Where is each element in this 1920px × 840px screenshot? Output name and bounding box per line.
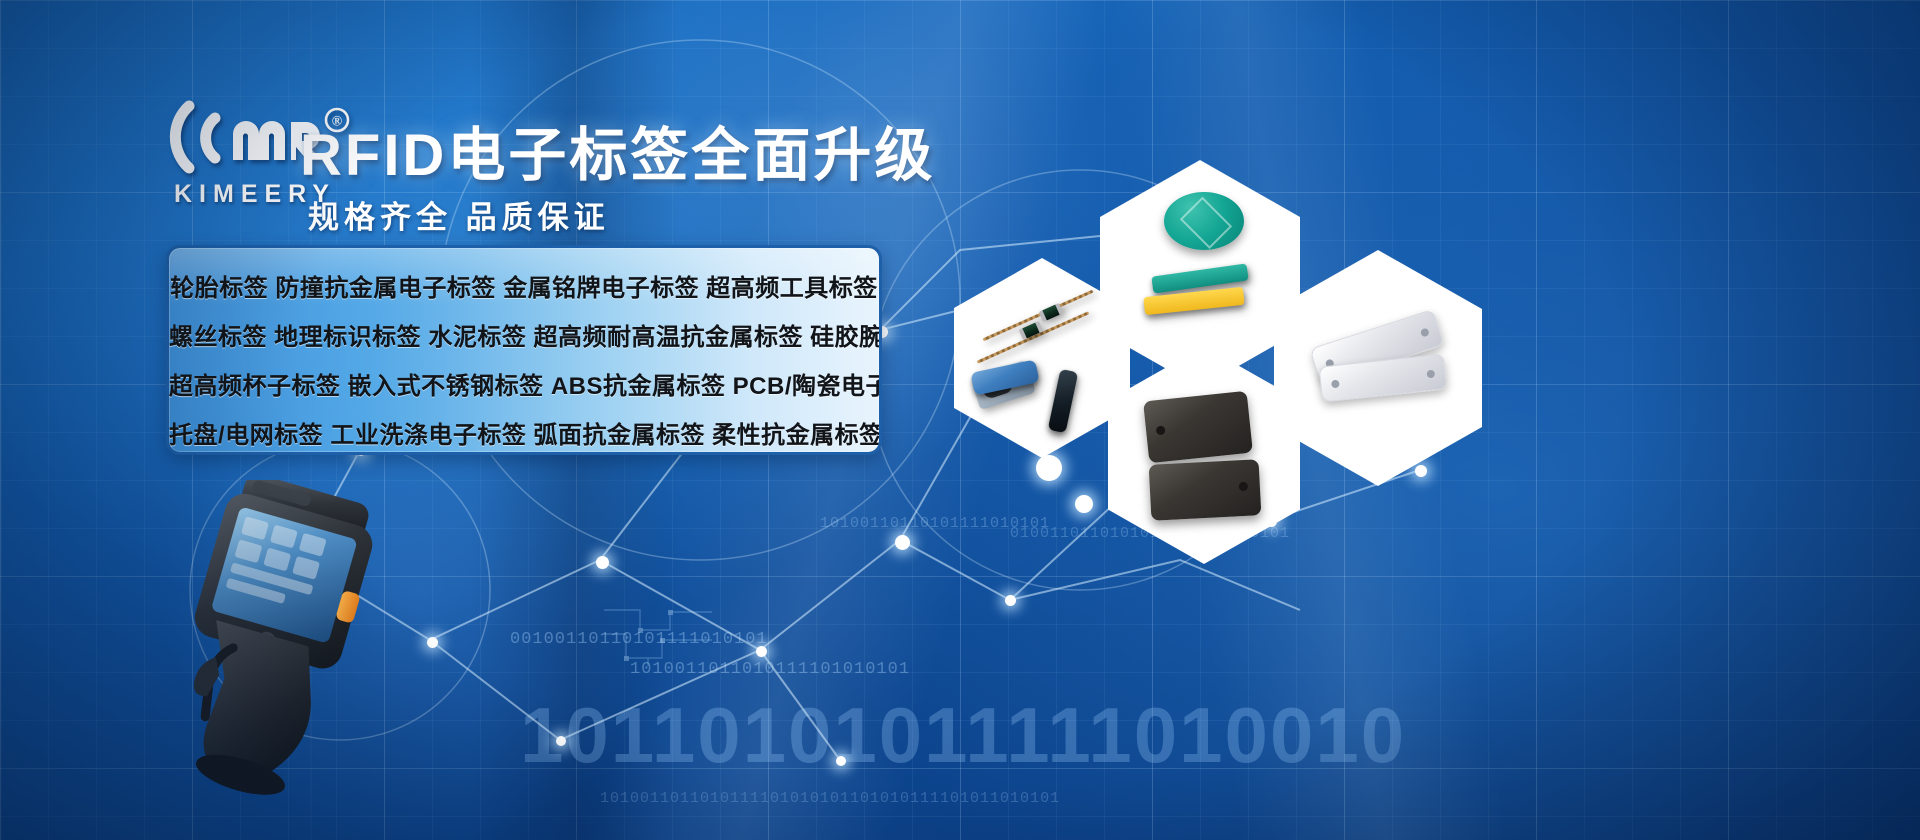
network-node	[556, 736, 566, 746]
product-list-box: 轮胎标签 防撞抗金属电子标签 金属铭牌电子标签 超高频工具标签 螺丝标签 地理标…	[166, 245, 882, 455]
page-subtitle: 规格齐全 品质保证	[308, 192, 610, 237]
network-node	[1005, 595, 1016, 606]
product-showcase	[940, 150, 1500, 550]
product-list-row: 超高频杯子标签 嵌入式不锈钢标签 ABS抗金属标签 PCB/陶瓷电子标签	[169, 362, 879, 411]
hex-cell-white-anti-metal-tags	[1274, 250, 1482, 486]
hex-cell-pcb-ceramic-tags	[1108, 346, 1300, 564]
network-node	[895, 535, 910, 550]
network-node	[596, 556, 609, 569]
network-node	[427, 637, 438, 648]
product-list-row: 托盘/电网标签 工业洗涤电子标签 弧面抗金属标签 柔性抗金属标签	[169, 411, 879, 455]
product-list-row: 轮胎标签 防撞抗金属电子标签 金属铭牌电子标签 超高频工具标签	[169, 264, 879, 313]
network-node	[836, 756, 846, 766]
page-title: RFID电子标签全面升级	[300, 108, 935, 192]
handheld-rfid-reader	[150, 480, 420, 810]
network-node	[756, 646, 767, 657]
product-list-row: 螺丝标签 地理标识标签 水泥标签 超高频耐高温抗金属标签 硅胶腕带	[169, 313, 879, 362]
rfid-promo-banner: 00100110110101111010101 1010011011010111…	[0, 0, 1920, 840]
